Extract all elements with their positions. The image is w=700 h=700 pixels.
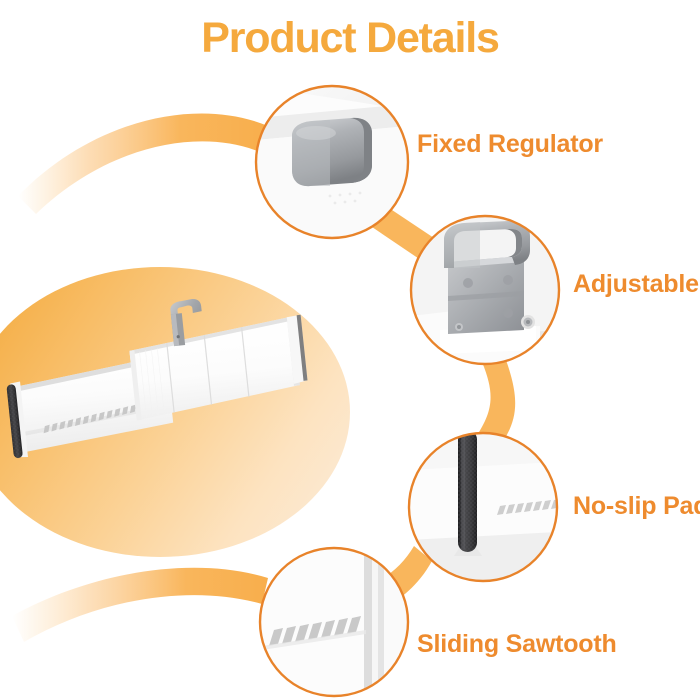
locking-screw (521, 315, 535, 329)
fixed-regulator-cap (292, 118, 372, 186)
callout-circle-fixed-regulator (256, 86, 408, 238)
callout-label-fixed-regulator: Fixed Regulator (417, 130, 603, 159)
callout-label-sliding-sawtooth: Sliding Sawtooth (417, 630, 617, 659)
product-details-infographic: Product Details Fixed Regulator Adjustab… (0, 0, 700, 700)
page-title: Product Details (0, 14, 700, 63)
callout-label-no-slip-pad: No-slip Pad (573, 492, 700, 521)
callout-label-adjustable: Adjustable (573, 270, 699, 299)
infographic-artwork (0, 0, 700, 700)
hinge-pin (455, 323, 463, 331)
ribbon-top-left (18, 113, 268, 214)
callout-circle-adjustable (411, 216, 559, 364)
ribbon-bottom-left (12, 568, 268, 642)
callout-circle-no-slip-pad (409, 430, 560, 581)
hero-product-group (0, 267, 350, 557)
callout-circle-sliding-sawtooth (260, 548, 408, 696)
